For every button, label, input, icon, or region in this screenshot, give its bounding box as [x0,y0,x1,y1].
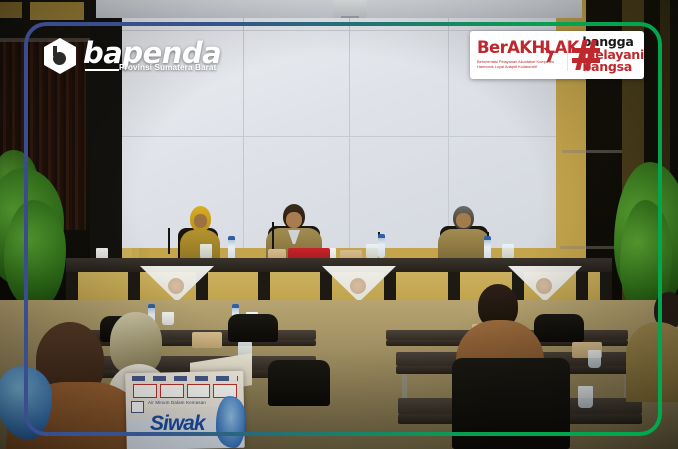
hash-stroke [572,58,600,63]
audience-chair [534,314,584,342]
carton-cert-mark [131,401,144,413]
audience-chair [228,314,278,342]
right-wall-moulding [562,150,622,153]
water-bottle [378,236,385,258]
bottle-cap [378,234,385,238]
carton-top-markings [132,376,238,381]
bottle-cap [148,304,155,308]
hash-stroke [572,48,600,53]
paper-cup [162,312,174,325]
bottle-cap [484,236,491,240]
lace-emblem [350,278,366,294]
letter-b-bowl [53,52,66,65]
screen-seam [122,136,556,137]
drinking-glass [588,350,601,368]
snack-box [192,332,222,348]
face [286,212,302,228]
bottle-cap [232,304,239,308]
bottle-cap [228,236,235,240]
right-wall-moulding-lower [560,246,622,249]
logo-wordmark: bapenda Provinsi Sumatera Barat [83,39,221,72]
screen-seam [448,18,449,248]
screenshot-root: Air Minum Dalam Kemasan Siwak bapenda Pr… [0,0,678,449]
water-bottle [484,238,491,260]
left-gold-trim [30,2,84,20]
tagline-line-3: bangsa [582,61,644,74]
screen-seam [243,18,244,248]
uniform [626,322,678,402]
logo-underline [85,69,119,71]
microphone-stand [272,222,274,252]
hashtag-icon [572,40,579,70]
left-gold-trim-outer [0,2,22,18]
badge-left-block: BerAKHLAK ❯ Berorientasi Pelayanan Akunt… [470,40,567,69]
microphone-stand [168,228,170,254]
lace-emblem [536,278,552,294]
handling-icon [133,384,157,398]
drinking-glass [578,386,593,408]
carton-water-splash [216,396,246,448]
handling-icon [160,384,184,398]
screen-seam [349,18,350,248]
potted-plant [4,200,66,310]
handling-icon [187,384,211,398]
berakhlak-badge: BerAKHLAK ❯ Berorientasi Pelayanan Akunt… [470,31,644,79]
bapenda-logo: bapenda Provinsi Sumatera Barat [44,38,221,74]
carton-handling-icons [133,384,237,398]
lace-emblem [168,278,184,294]
logo-subtitle: Provinsi Sumatera Barat [119,64,221,72]
blue-plastic-bag [0,366,52,440]
bapenda-hexagon-b-icon [44,38,76,74]
audience-chair [268,360,330,406]
face [194,214,207,228]
carton-brand-name: Siwak [150,412,205,436]
face [456,213,471,228]
water-bottle [228,238,235,260]
audience-chair [452,358,570,449]
